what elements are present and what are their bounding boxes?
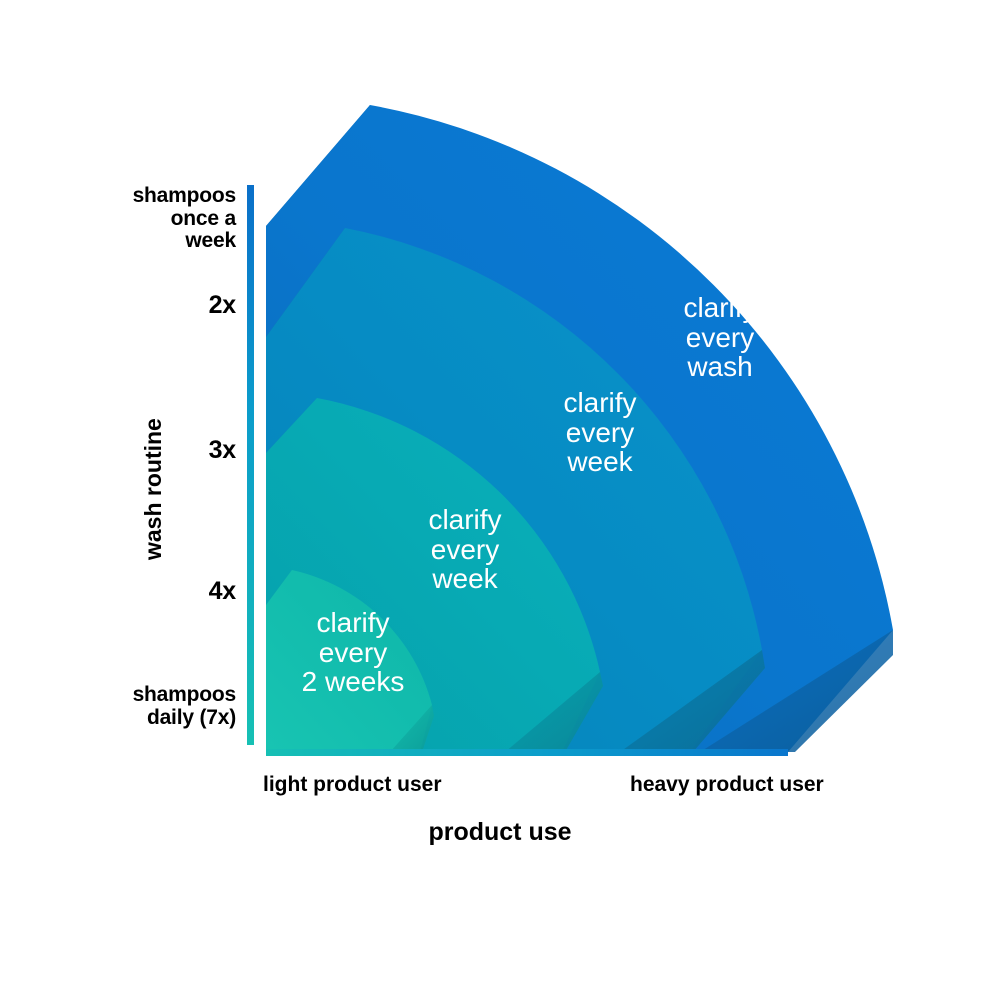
x-tick-heavy-product-user: heavy product user [630,773,824,797]
y-tick-2x: 2x [40,292,236,319]
infographic-chart: clarify every 2 weeks clarify every week… [0,0,1000,1000]
y-axis-title: wash routine [140,418,167,560]
y-tick-shampoos-daily-7x: shampoos daily (7x) [20,684,236,729]
x-tick-light-product-user: light product user [263,773,442,797]
x-axis-line [266,749,788,756]
y-axis-line [247,185,254,745]
y-tick-shampoos-once-a-week: shampoos once a week [40,185,236,253]
y-tick-4x: 4x [40,578,236,605]
x-axis-title: product use [0,818,1000,847]
y-tick-3x: 3x [40,437,236,464]
